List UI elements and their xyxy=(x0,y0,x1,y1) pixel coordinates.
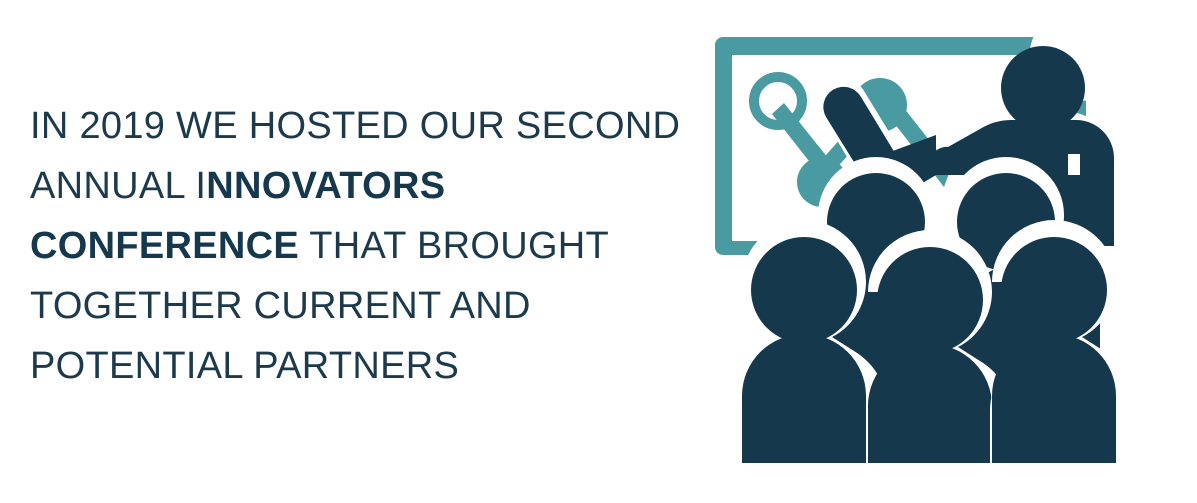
presenter-head xyxy=(1001,46,1085,130)
conference-presentation-illustration xyxy=(660,20,1130,480)
banner: IN 2019 WE HOSTED OUR SECOND ANNUAL INNO… xyxy=(0,0,1197,503)
page-headline: IN 2019 WE HOSTED OUR SECOND ANNUAL INNO… xyxy=(30,96,690,396)
